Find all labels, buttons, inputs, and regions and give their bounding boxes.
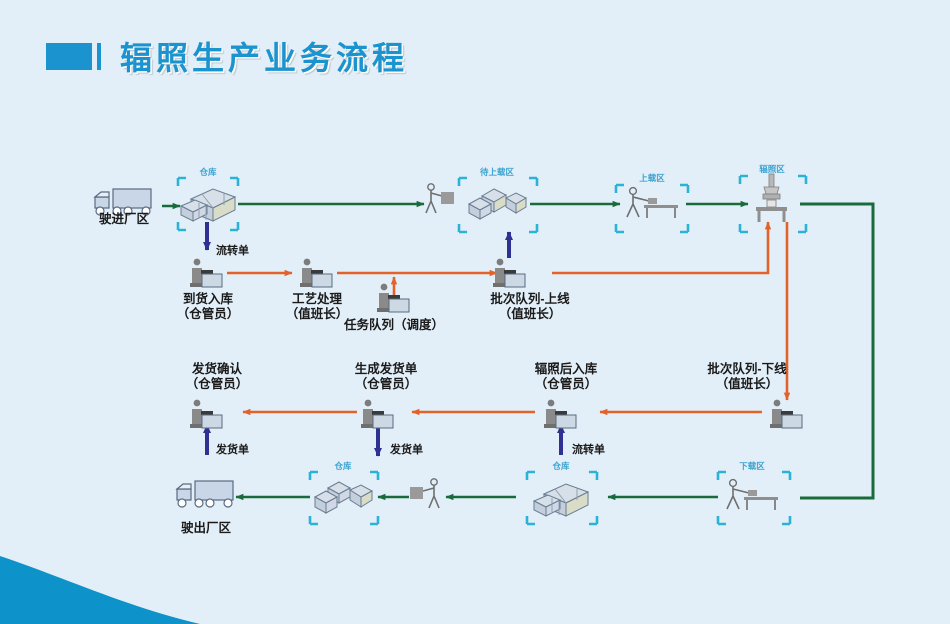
zone-label-warehouse-out: 仓库 xyxy=(334,460,351,472)
irradiation-tower-icon xyxy=(748,172,796,224)
node-label-process-tech: 工艺处理（值班长） xyxy=(286,292,349,322)
desk-worker-icon xyxy=(188,398,226,430)
desk-worker-icon xyxy=(298,257,336,289)
node-label-post-irr-store: 辐照后入库（仓管员） xyxy=(535,362,598,392)
truck-icon xyxy=(173,475,239,513)
node-label-batch-offline: 批次队列-下线（值班长） xyxy=(707,362,786,392)
edge-label-transfer-2: 流转单 xyxy=(572,441,605,457)
boxes-stack-icon xyxy=(530,474,592,520)
worker-push-grey-icon xyxy=(408,478,444,512)
worker-table-icon xyxy=(723,478,781,514)
zone-label-upload: 上载区 xyxy=(639,172,665,184)
zone-label-warehouse-in: 仓库 xyxy=(199,166,216,178)
edge-label-transfer-1: 流转单 xyxy=(216,242,249,258)
flow-diagram: 仓库 待上载区 上载区 辐照区 下载区 仓库 仓库 xyxy=(0,0,950,624)
desk-worker-icon xyxy=(188,257,226,289)
desk-worker-icon xyxy=(375,282,413,314)
boxes-stack-icon xyxy=(177,179,239,225)
boxes-flat-icon xyxy=(464,183,530,223)
node-label-task-queue: 任务队列（调度） xyxy=(344,318,444,333)
zone-label-preload: 待上载区 xyxy=(480,166,514,178)
worker-table-icon xyxy=(623,186,681,222)
edge-label-invoice-2: 发货单 xyxy=(390,441,423,457)
desk-worker-icon xyxy=(542,398,580,430)
boxes-flat-icon xyxy=(310,476,376,518)
node-label-gen-invoice: 生成发货单（仓管员） xyxy=(355,362,418,392)
node-label-truck-in: 驶进厂区 xyxy=(99,212,149,227)
desk-worker-icon xyxy=(359,398,397,430)
node-label-batch-online: 批次队列-上线（值班长） xyxy=(490,292,569,322)
flow-connectors xyxy=(0,0,950,624)
zone-label-warehouse-post: 仓库 xyxy=(552,460,569,472)
node-label-ship-confirm: 发货确认（仓管员） xyxy=(186,362,249,392)
edge-label-invoice-1: 发货单 xyxy=(216,441,249,457)
desk-worker-icon xyxy=(491,257,529,289)
worker-push-icon xyxy=(422,183,458,217)
node-label-truck-out: 驶出厂区 xyxy=(181,521,231,536)
zone-label-download: 下载区 xyxy=(739,460,765,472)
desk-worker-icon xyxy=(768,398,806,430)
node-label-arrive-store: 到货入库（仓管员） xyxy=(177,292,240,322)
